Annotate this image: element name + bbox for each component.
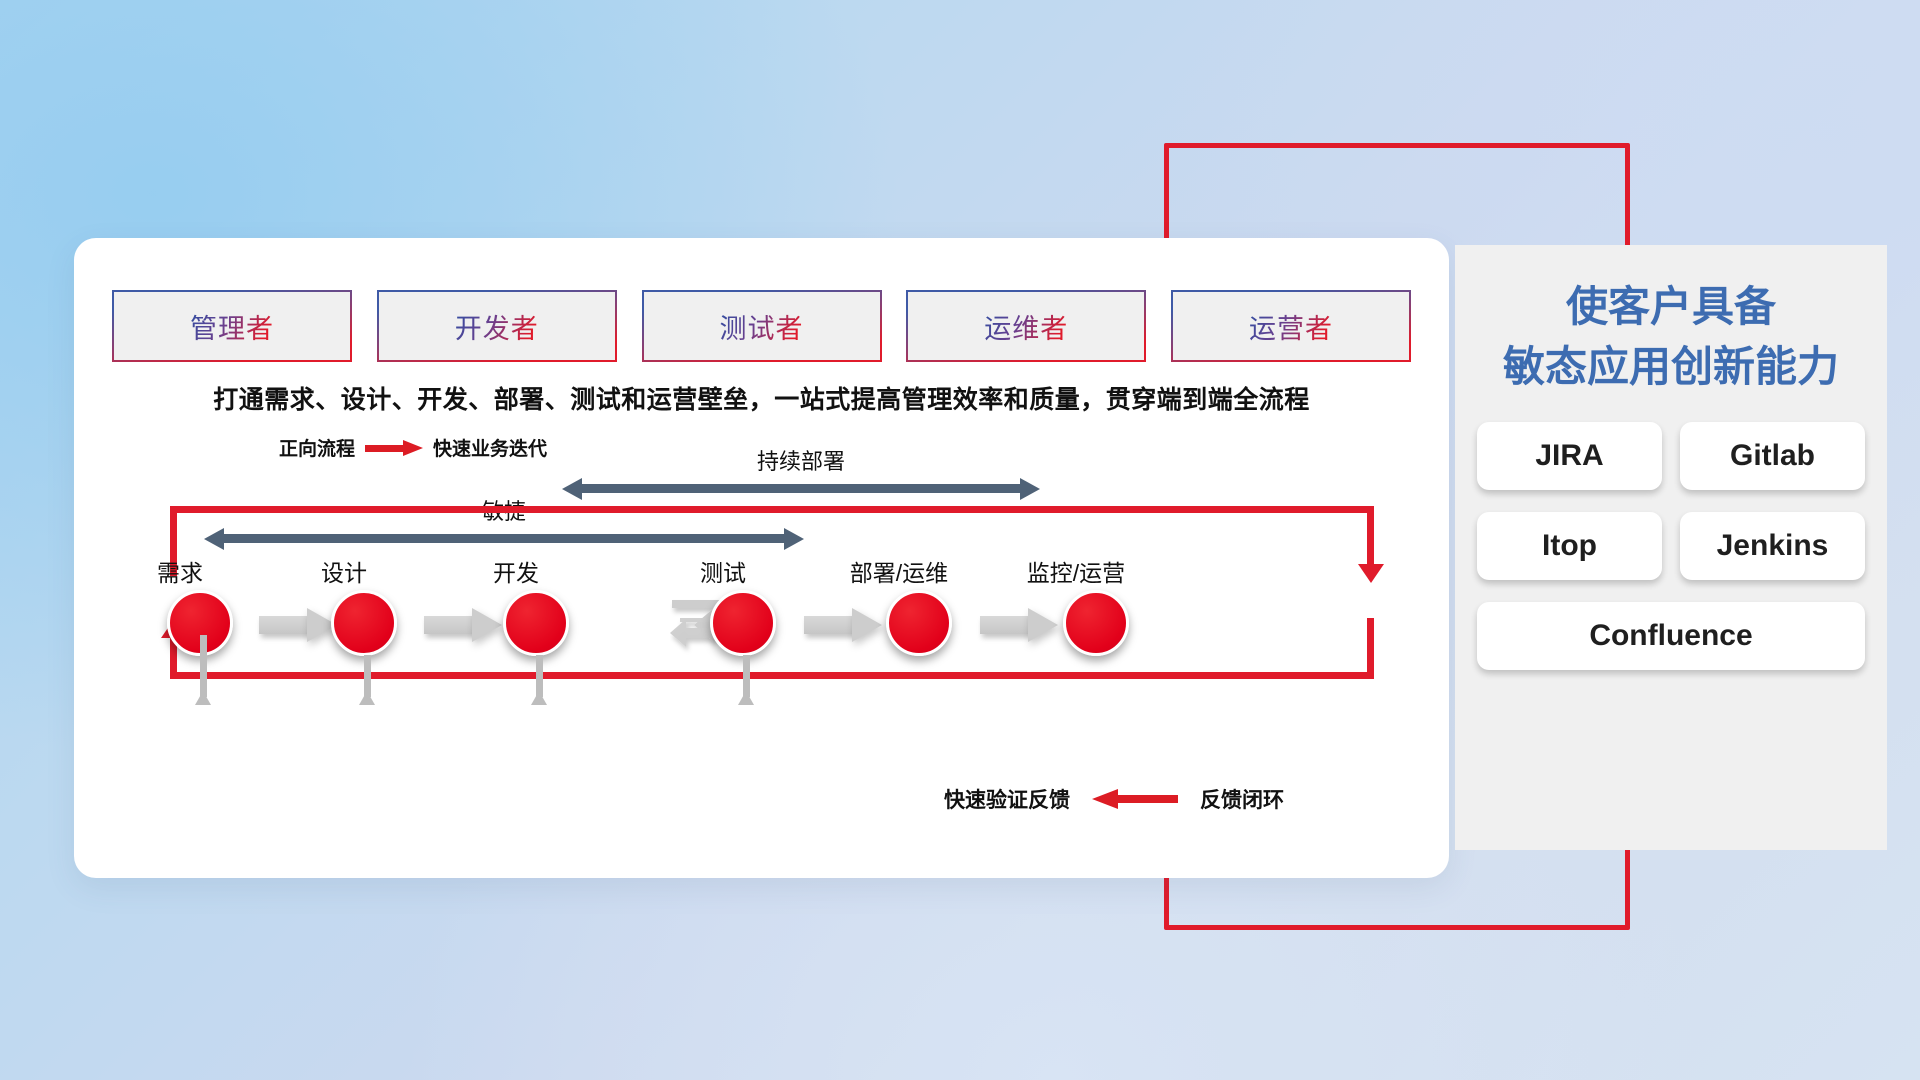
card-tagline: 打通需求、设计、开发、部署、测试和运营壁垒，一站式提高管理效率和质量，贯穿端到端… [74, 380, 1449, 416]
feedback-right-label: 反馈闭环 [1200, 784, 1284, 814]
pipeline-node-deploy-ops[interactable] [886, 590, 952, 656]
arrow-bar [580, 484, 1022, 493]
tool-chip-confluence[interactable]: Confluence [1477, 602, 1865, 670]
role-boxes-row: 管理者 开发者 测试者 运维者 运营者 [114, 292, 1409, 360]
gray-block-arrow-icon [424, 608, 502, 642]
feedback-loop-legend: 快速验证反馈 反馈闭环 [944, 784, 1284, 814]
value-proposition-panel: 使客户具备 敏态应用创新能力 JIRA Gitlab Itop Jenkins … [1455, 245, 1887, 850]
feedback-left-label: 快速验证反馈 [944, 784, 1070, 814]
pipeline-node-development[interactable] [503, 590, 569, 656]
forward-flow-right-label: 快速业务迭代 [433, 434, 547, 461]
role-label: 开发者 [455, 307, 539, 346]
gray-block-arrow-icon [259, 608, 337, 642]
devops-pipeline: 需求 设计 开发 [114, 554, 1409, 674]
panel-heading-line-1: 使客户具备 [1455, 277, 1887, 337]
panel-heading-line-2: 敏态应用创新能力 [1455, 337, 1887, 397]
pipeline-node-testing[interactable] [710, 590, 776, 656]
role-label: 管理者 [190, 307, 274, 346]
role-label: 运营者 [1249, 307, 1333, 346]
panel-heading: 使客户具备 敏态应用创新能力 [1455, 245, 1887, 396]
forward-flow-left-label: 正向流程 [279, 434, 355, 461]
red-arrow-left-icon [1092, 791, 1178, 807]
slide-canvas: 管理者 开发者 测试者 运维者 运营者 打通需求、设计、开发、部署、测试和运营壁… [0, 0, 1920, 1080]
role-box-business-operations[interactable]: 运营者 [1173, 292, 1409, 360]
role-box-manager[interactable]: 管理者 [114, 292, 350, 360]
tool-chip-jenkins[interactable]: Jenkins [1680, 512, 1865, 580]
forward-flow-legend: 正向流程 快速业务迭代 [279, 434, 547, 461]
gray-block-arrow-icon [980, 608, 1058, 642]
role-box-operations-maintenance[interactable]: 运维者 [908, 292, 1144, 360]
pipeline-stage-label: 部署/运维 [814, 554, 984, 588]
tool-chips-list: JIRA Gitlab Itop Jenkins Confluence [1477, 422, 1865, 670]
continuous-deployment-label: 持续部署 [562, 444, 1040, 476]
pipeline-node-design[interactable] [331, 590, 397, 656]
pipeline-stage-label: 需求 [95, 554, 265, 588]
tool-chip-itop[interactable]: Itop [1477, 512, 1662, 580]
double-headed-arrow-icon [784, 528, 804, 550]
double-headed-arrow-icon [1020, 478, 1040, 500]
pipeline-node-monitor-operate[interactable] [1063, 590, 1129, 656]
pipeline-stage-label: 监控/运营 [991, 554, 1161, 588]
pipeline-node-requirements[interactable] [167, 590, 233, 656]
role-box-developer[interactable]: 开发者 [379, 292, 615, 360]
red-arrow-right-icon [365, 440, 423, 456]
gray-block-arrow-icon [804, 608, 882, 642]
role-label: 测试者 [720, 307, 804, 346]
pipeline-stage-label: 测试 [638, 554, 808, 588]
agile-span-arrow: 敏捷 [204, 528, 804, 550]
role-label: 运维者 [984, 307, 1068, 346]
double-headed-arrow-icon [204, 528, 224, 550]
main-content-card: 管理者 开发者 测试者 运维者 运营者 打通需求、设计、开发、部署、测试和运营壁… [74, 238, 1449, 878]
role-box-tester[interactable]: 测试者 [644, 292, 880, 360]
pipeline-stage-label: 开发 [431, 554, 601, 588]
red-circuit-top [170, 506, 1374, 513]
tool-chip-jira[interactable]: JIRA [1477, 422, 1662, 490]
pipeline-stage-label: 设计 [259, 554, 429, 588]
tool-chip-gitlab[interactable]: Gitlab [1680, 422, 1865, 490]
arrow-bar [222, 534, 786, 543]
